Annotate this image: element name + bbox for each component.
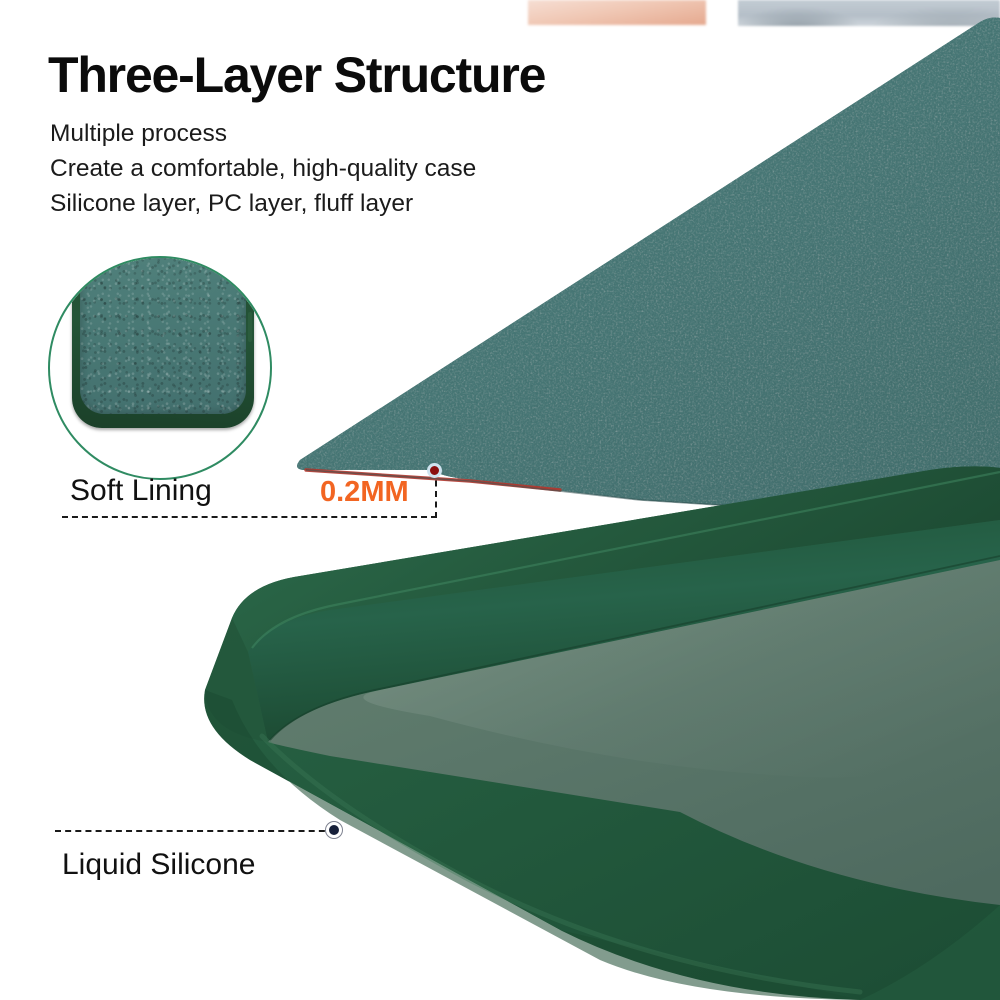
page-title: Three-Layer Structure — [48, 46, 545, 104]
subtitle-line-3: Silicone layer, PC layer, fluff layer — [50, 190, 413, 218]
inset-clip — [50, 258, 270, 478]
liquid-silicone-marker-dot — [326, 822, 342, 838]
inset-side-button — [248, 312, 252, 342]
soft-lining-label: Soft Lining — [70, 474, 212, 508]
liquid-silicone-label: Liquid Silicone — [62, 848, 255, 882]
soft-lining-closeup-inset — [48, 256, 272, 480]
product-infographic: Three-Layer Structure Multiple process C… — [0, 0, 1000, 1000]
inset-fluff-surface — [80, 258, 246, 414]
inset-case-shell — [72, 258, 254, 428]
liquid-silicone-leader-horizontal — [55, 830, 335, 832]
subtitle-line-2: Create a comfortable, high-quality case — [50, 155, 476, 183]
subtitle-line-1: Multiple process — [50, 120, 227, 148]
soft-lining-thickness-label: 0.2MM — [320, 476, 409, 509]
soft-lining-marker-dot — [427, 463, 442, 478]
soft-lining-leader-horizontal — [62, 516, 437, 518]
